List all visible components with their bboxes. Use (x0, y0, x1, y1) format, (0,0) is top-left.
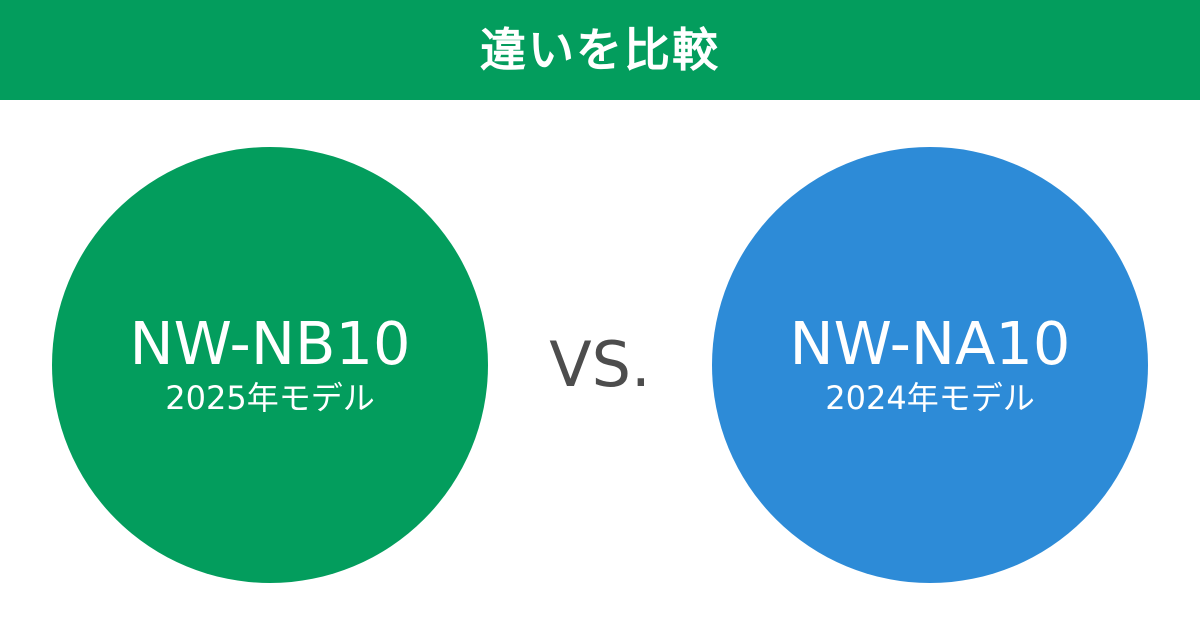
page-title: 違いを比較 (480, 27, 720, 73)
versus-label: VS. (500, 320, 700, 410)
right-model-name: NW-NA10 (790, 313, 1071, 375)
comparison-poster: 違いを比較 NW-NB10 2025年モデル VS. NW-NA10 2024年… (0, 0, 1200, 630)
comparison-stage: NW-NB10 2025年モデル VS. NW-NA10 2024年モデル (0, 100, 1200, 630)
left-model-year: 2025年モデル (165, 381, 374, 416)
header-band: 違いを比較 (0, 0, 1200, 100)
product-circle-left: NW-NB10 2025年モデル (52, 147, 488, 583)
right-model-year: 2024年モデル (825, 381, 1034, 416)
left-model-name: NW-NB10 (129, 313, 410, 375)
product-circle-right: NW-NA10 2024年モデル (712, 147, 1148, 583)
